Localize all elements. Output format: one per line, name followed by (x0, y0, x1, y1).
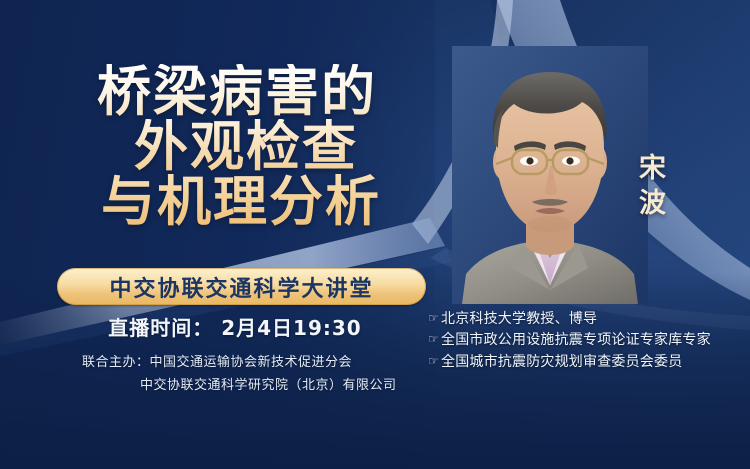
organizer-line-2: 中交协联交通科学研究院（北京）有限公司 (52, 375, 472, 398)
pointing-hand-icon: ☞ (428, 330, 441, 349)
pointing-hand-icon: ☞ (428, 352, 441, 371)
credential-item: ☞ 北京科技大学教授、博导 (428, 309, 711, 330)
title-line-3: 与机理分析 (22, 174, 460, 229)
webinar-poster: 桥梁病害的 外观检查 与机理分析 中交协联交通科学大讲堂 直播时间： 2月4日1… (0, 0, 750, 469)
organizers: 联合主办：中国交通运输协会新技术促进分会 中交协联交通科学研究院（北京）有限公司 (52, 352, 472, 398)
speaker-name: 宋波 (630, 152, 676, 221)
series-banner: 中交协联交通科学大讲堂 (57, 268, 426, 305)
credential-text: 全国市政公用设施抗震专项论证专家库专家 (441, 330, 711, 351)
credential-item: ☞ 全国城市抗震防灾规划审查委员会委员 (428, 352, 711, 373)
title-line-1: 桥梁病害的 (14, 64, 460, 119)
credential-text: 全国城市抗震防灾规划审查委员会委员 (441, 352, 682, 373)
page-title: 桥梁病害的 外观检查 与机理分析 (0, 64, 460, 229)
speaker-photo (452, 46, 648, 304)
title-line-2: 外观检查 (32, 119, 460, 174)
organizer-line-1: 联合主办：中国交通运输协会新技术促进分会 (52, 352, 472, 375)
speaker-credentials: ☞ 北京科技大学教授、博导 ☞ 全国市政公用设施抗震专项论证专家库专家 ☞ 全国… (428, 309, 711, 373)
series-banner-label: 中交协联交通科学大讲堂 (109, 271, 373, 303)
live-time: 直播时间： 2月4日19:30 (0, 312, 470, 341)
pointing-hand-icon: ☞ (428, 309, 441, 328)
credential-text: 北京科技大学教授、博导 (441, 309, 597, 330)
credential-item: ☞ 全国市政公用设施抗震专项论证专家库专家 (428, 330, 711, 351)
